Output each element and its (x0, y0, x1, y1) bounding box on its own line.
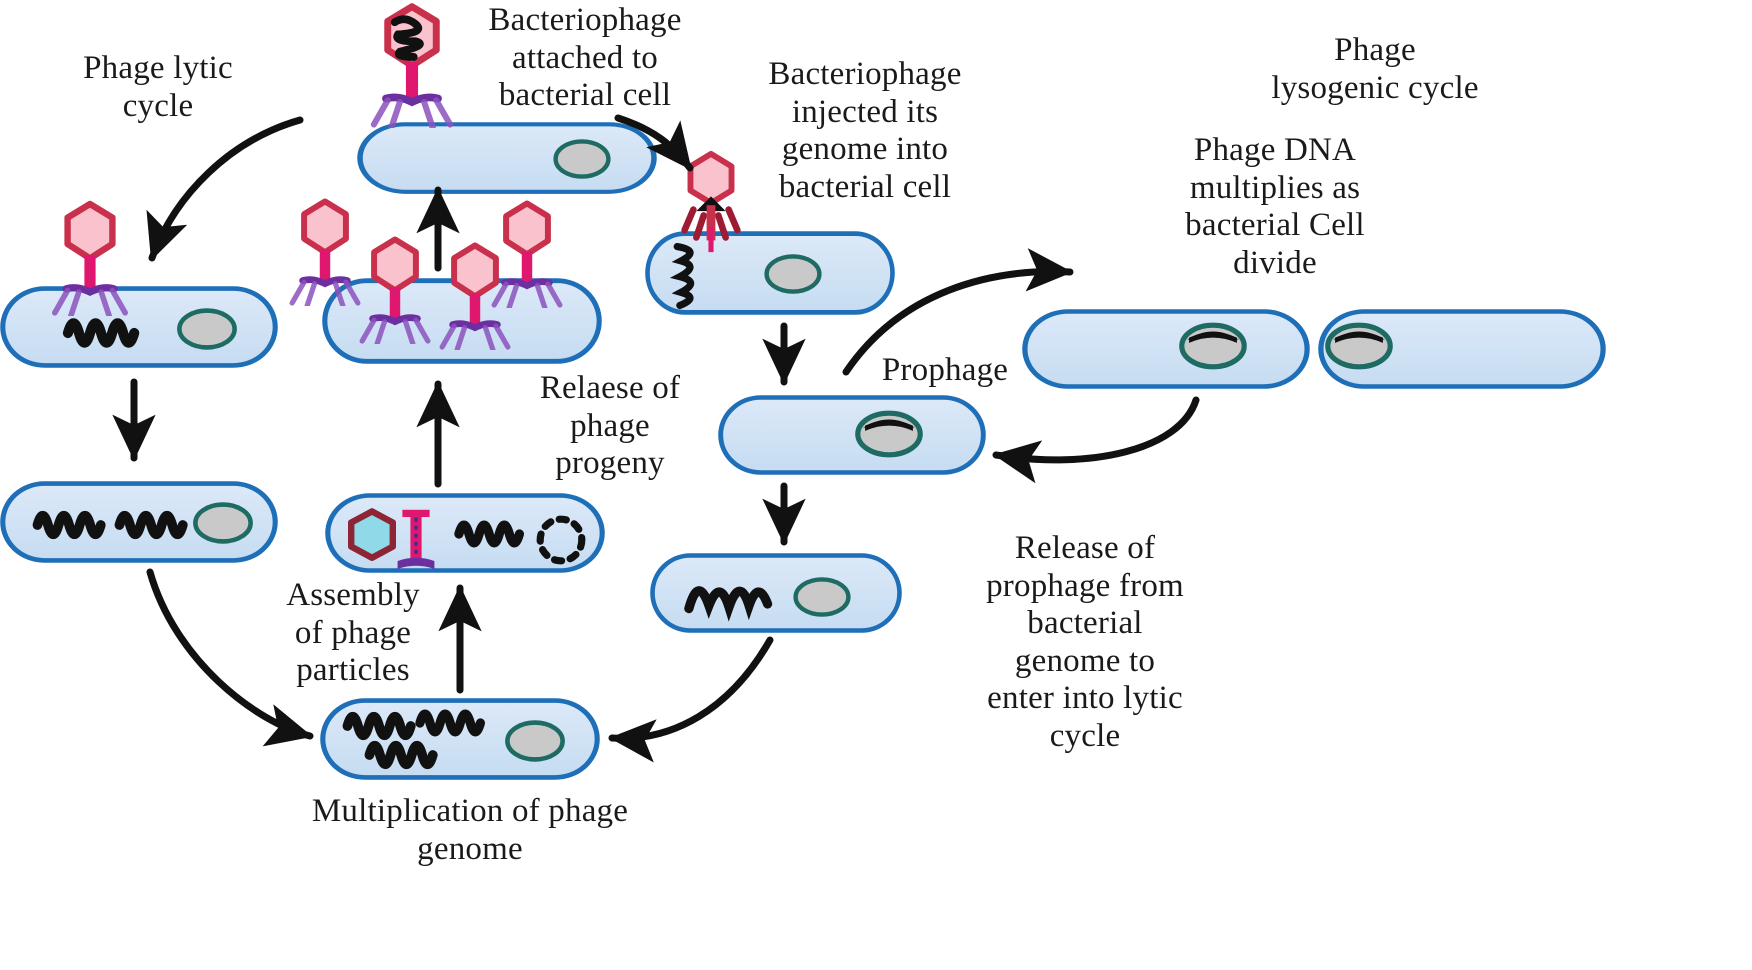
bacterium-prophage-excised (653, 556, 900, 631)
label-phage-lytic-cycle: Phage lytic cycle (48, 50, 268, 125)
progeny-phage-1 (292, 201, 358, 306)
arrow-induction-to-multiplication (612, 640, 770, 738)
label-multiplication-of-phage-genome: Multiplication of phage genome (300, 793, 640, 868)
phage-cycle-diagram: Phage lytic cycle Bacteriophage attached… (0, 0, 1752, 970)
label-phage-dna-multiplies: Phage DNA multiplies as bacterial Cell d… (1150, 132, 1400, 282)
label-prophage: Prophage (855, 352, 1035, 390)
arrow-attach-to-lytic (152, 120, 300, 258)
label-release-of-phage-progeny: Relaese of phage progeny (520, 370, 700, 483)
divided-bacterium-right (1321, 312, 1603, 387)
arrow-divided-to-prophage (996, 400, 1196, 460)
phage-attached-icon (374, 7, 450, 128)
label-assembly-of-phage-particles: Assembly of phage particles (258, 577, 448, 690)
bacterium-replicating-phage-dna (3, 484, 275, 561)
bacterium-multiplying-phage-genome (323, 701, 597, 778)
label-phage-lysogenic-cycle: Phage lysogenic cycle (1230, 32, 1520, 107)
bacterium-assembling-phage-particles (328, 496, 602, 571)
divided-bacterium-left (1025, 312, 1307, 387)
label-bacteriophage-injected: Bacteriophage injected its genome into b… (750, 56, 980, 206)
label-release-of-prophage: Release of prophage from bacterial genom… (960, 530, 1210, 756)
bacterium-releasing-phage-progeny (292, 201, 599, 361)
bacterium-lytic-entry (3, 289, 275, 366)
bacterium-with-prophage (721, 398, 984, 473)
bacterium-with-injected-genome (648, 234, 893, 313)
label-bacteriophage-attached: Bacteriophage attached to bacterial cell (460, 2, 710, 115)
bacterium-with-attached-phage (360, 124, 654, 192)
